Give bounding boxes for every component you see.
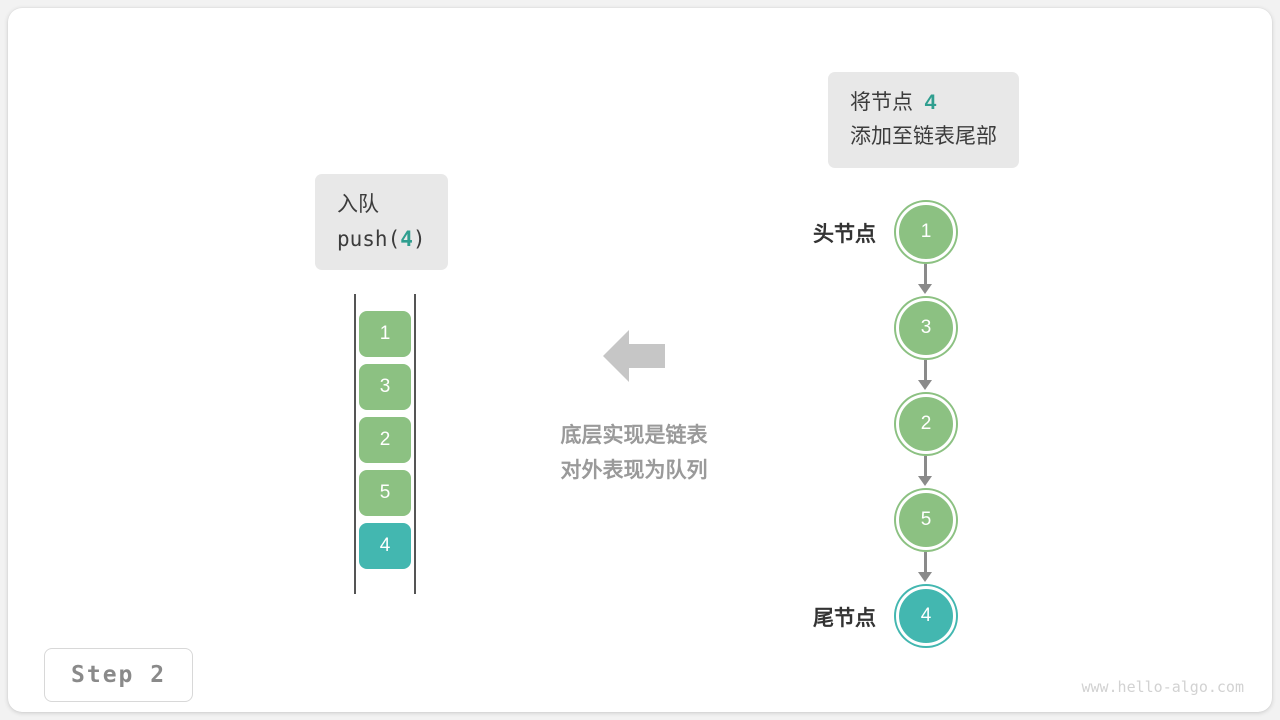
append-callout-line2: 添加至链表尾部: [850, 120, 997, 154]
watermark: www.hello-algo.com: [1081, 678, 1244, 696]
caption-line1: 底层实现是链表: [537, 418, 731, 453]
queue-cells: 1 3 2 5 4: [359, 311, 411, 576]
tail-node-label: 尾节点: [776, 602, 876, 632]
queue-cell: 5: [359, 470, 411, 516]
queue-rail-left: [354, 294, 356, 594]
caption-line2: 对外表现为队列: [537, 453, 731, 488]
append-text-prefix: 将节点: [850, 91, 913, 114]
linked-list: 头节点 尾节点 1 3 2 5 4: [896, 202, 960, 650]
push-call-value: 4: [400, 227, 413, 251]
append-value: 4: [925, 91, 937, 114]
left-arrow-icon: [603, 328, 665, 384]
push-callout-line1: 入队: [337, 188, 426, 222]
append-callout: 将节点 4 添加至链表尾部: [828, 72, 1019, 168]
diagram-caption: 底层实现是链表 对外表现为队列: [537, 418, 731, 488]
list-arrowhead-icon: [918, 380, 932, 390]
diagram-card: 入队 push(4) 将节点 4 添加至链表尾部 1 3 2 5 4 底: [8, 8, 1272, 712]
push-callout: 入队 push(4): [315, 174, 448, 270]
step-badge: Step 2: [44, 648, 193, 702]
list-link: [924, 552, 927, 574]
append-callout-line1: 将节点 4: [850, 86, 997, 120]
push-callout-line2: push(4): [337, 222, 426, 256]
list-link: [924, 264, 927, 286]
queue-cell-highlighted: 4: [359, 523, 411, 569]
head-node-label: 头节点: [776, 218, 876, 248]
queue-cell: 2: [359, 417, 411, 463]
queue-rail-right: [414, 294, 416, 594]
list-link: [924, 360, 927, 382]
diagram-canvas: 入队 push(4) 将节点 4 添加至链表尾部 1 3 2 5 4 底: [0, 0, 1280, 720]
queue-cell: 1: [359, 311, 411, 357]
queue-column: 1 3 2 5 4: [354, 294, 416, 594]
queue-cell: 3: [359, 364, 411, 410]
list-link: [924, 456, 927, 478]
push-call-suffix: ): [413, 227, 426, 251]
list-node: 2: [896, 394, 956, 454]
list-arrowhead-icon: [918, 476, 932, 486]
list-node: 5: [896, 490, 956, 550]
list-arrowhead-icon: [918, 284, 932, 294]
list-node-highlighted: 4: [896, 586, 956, 646]
list-node: 3: [896, 298, 956, 358]
push-call-prefix: push(: [337, 227, 400, 251]
list-node: 1: [896, 202, 956, 262]
list-arrowhead-icon: [918, 572, 932, 582]
